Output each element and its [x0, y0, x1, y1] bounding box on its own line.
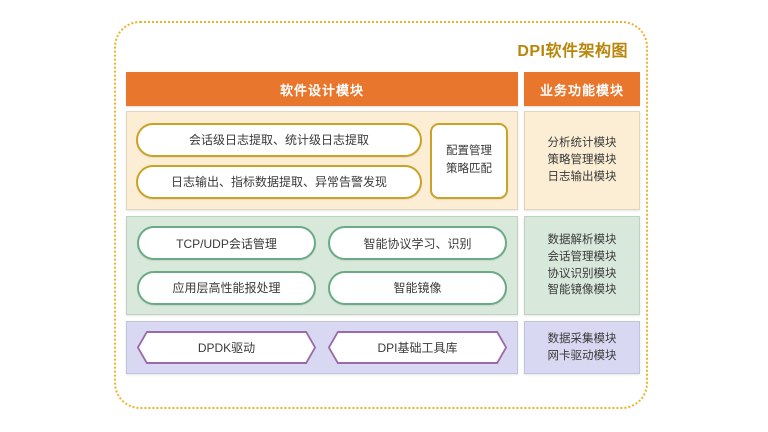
pill-app-layer-processing[interactable]: 应用层高性能报处理 [137, 271, 316, 305]
driver-layer-right-panel: 数据采集模块 网卡驱动模块 [524, 321, 640, 374]
diagram-frame: DPI软件架构图 软件设计模块 业务功能模块 会话级日志提取、统计级日志提取 日… [114, 21, 648, 409]
session-layer-left-panel: TCP/UDP会话管理 智能协议学习、识别 应用层高性能报处理 智能镜像 [126, 216, 518, 315]
config-policy-box[interactable]: 配置管理 策略匹配 [430, 123, 508, 199]
session-layer-pill-grid: TCP/UDP会话管理 智能协议学习、识别 应用层高性能报处理 智能镜像 [127, 217, 517, 314]
design-layer-right-panel: 分析统计模块 策略管理模块 日志输出模块 [524, 111, 640, 210]
column-headers: 软件设计模块 业务功能模块 [126, 72, 640, 106]
business-module-data-collect: 数据采集模块 [548, 331, 617, 348]
hex-dpi-toolkit-label: DPI基础工具库 [377, 339, 457, 356]
business-module-session-mgmt: 会话管理模块 [548, 249, 617, 266]
header-business-function: 业务功能模块 [524, 72, 640, 106]
pill-protocol-learning[interactable]: 智能协议学习、识别 [328, 226, 507, 260]
pill-log-output-metrics[interactable]: 日志输出、指标数据提取、异常告警发现 [136, 165, 422, 199]
pill-smart-mirror[interactable]: 智能镜像 [328, 271, 507, 305]
pill-session-log-extract[interactable]: 会话级日志提取、统计级日志提取 [136, 123, 422, 157]
business-module-protocol-id: 协议识别模块 [548, 266, 617, 283]
layer-row-design: 会话级日志提取、统计级日志提取 日志输出、指标数据提取、异常告警发现 配置管理 … [126, 111, 640, 210]
business-module-nic-driver: 网卡驱动模块 [548, 348, 617, 365]
layer-row-driver: DPDK驱动 DPI基础工具库 数据采集模块 网卡驱动模块 [126, 321, 640, 374]
hex-dpdk-driver[interactable]: DPDK驱动 [137, 331, 316, 364]
driver-layer-hex-grid: DPDK驱动 DPI基础工具库 [127, 322, 517, 373]
config-box-line-2: 策略匹配 [446, 161, 492, 178]
hex-dpdk-driver-label: DPDK驱动 [198, 339, 255, 356]
page-title: DPI软件架构图 [517, 37, 628, 61]
session-layer-right-panel: 数据解析模块 会话管理模块 协议识别模块 智能镜像模块 [524, 216, 640, 315]
business-module-analysis: 分析统计模块 [548, 135, 617, 152]
layer-row-session: TCP/UDP会话管理 智能协议学习、识别 应用层高性能报处理 智能镜像 数据解… [126, 216, 640, 315]
design-layer-pill-list: 会话级日志提取、统计级日志提取 日志输出、指标数据提取、异常告警发现 [136, 123, 422, 199]
pill-tcp-udp-session[interactable]: TCP/UDP会话管理 [137, 226, 316, 260]
driver-layer-left-panel: DPDK驱动 DPI基础工具库 [126, 321, 518, 374]
business-module-log-output: 日志输出模块 [548, 169, 617, 186]
design-layer-left-panel: 会话级日志提取、统计级日志提取 日志输出、指标数据提取、异常告警发现 配置管理 … [126, 111, 518, 210]
architecture-grid: 软件设计模块 业务功能模块 会话级日志提取、统计级日志提取 日志输出、指标数据提… [126, 72, 640, 397]
business-module-smart-mirror: 智能镜像模块 [548, 282, 617, 299]
header-software-design: 软件设计模块 [126, 72, 518, 106]
config-box-line-1: 配置管理 [446, 143, 492, 160]
hex-dpi-toolkit[interactable]: DPI基础工具库 [328, 331, 507, 364]
business-module-policy: 策略管理模块 [548, 152, 617, 169]
business-module-data-parse: 数据解析模块 [548, 232, 617, 249]
